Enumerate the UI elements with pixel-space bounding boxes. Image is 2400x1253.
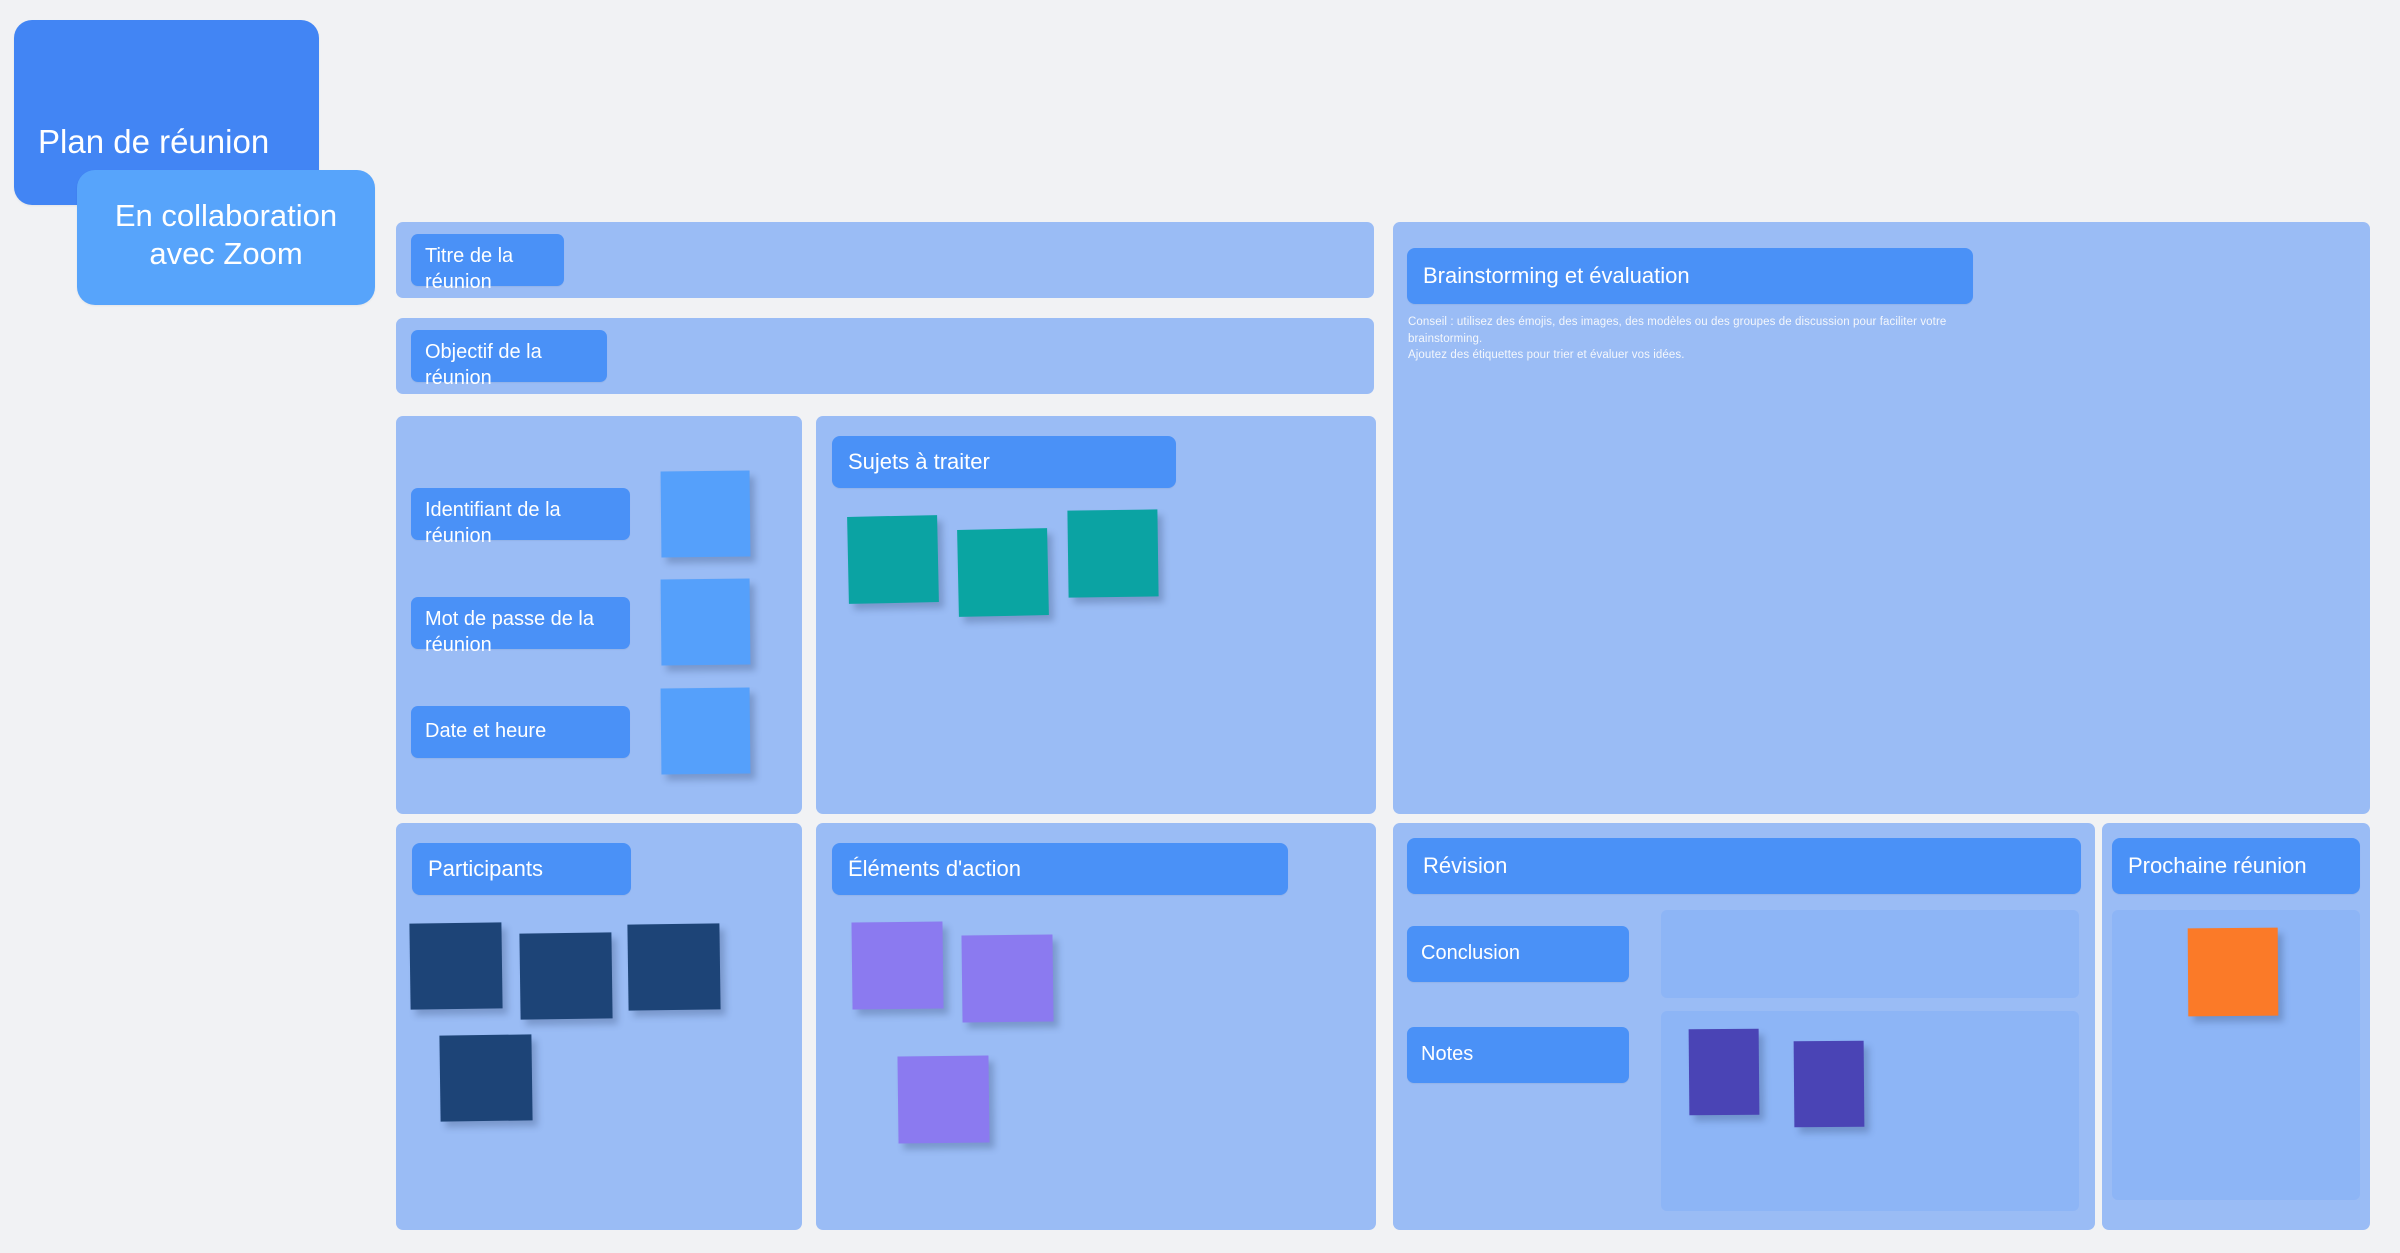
sticky-note-participant-1[interactable] (409, 922, 502, 1009)
chip-conclusion-label: Conclusion (1421, 940, 1520, 966)
sticky-note-participant-4[interactable] (439, 1034, 532, 1121)
sticky-note-action-1[interactable] (851, 921, 943, 1009)
frame-brainstorming[interactable]: Brainstorming et évaluation Conseil : ut… (1393, 222, 2370, 814)
sticky-note-participant-3[interactable] (627, 923, 720, 1010)
frame-meeting-title[interactable]: Titre de la réunion (396, 222, 1374, 298)
header-participants[interactable]: Participants (412, 843, 631, 895)
sticky-note-topic-1[interactable] (847, 515, 939, 604)
sticky-note-meeting-id[interactable] (661, 471, 751, 558)
sticky-note-topic-3[interactable] (1067, 509, 1158, 597)
header-review[interactable]: Révision (1407, 838, 2081, 894)
chip-meeting-objective[interactable]: Objectif de la réunion (411, 330, 607, 382)
chip-meeting-datetime-label: Date et heure (425, 718, 546, 744)
sticky-note-participant-2[interactable] (519, 932, 612, 1019)
header-brainstorming[interactable]: Brainstorming et évaluation (1407, 248, 1973, 304)
sticky-note-next-meeting[interactable] (2188, 928, 2279, 1017)
sticky-note-topic-2[interactable] (957, 528, 1049, 617)
chip-notes-label: Notes (1421, 1041, 1473, 1067)
frame-meeting-objective[interactable]: Objectif de la réunion (396, 318, 1374, 394)
chip-notes[interactable]: Notes (1407, 1027, 1629, 1083)
frame-next-meeting[interactable]: Prochaine réunion (2102, 823, 2370, 1230)
header-brainstorming-label: Brainstorming et évaluation (1423, 263, 1690, 289)
header-topics-label: Sujets à traiter (848, 449, 990, 475)
sticky-note-action-3[interactable] (897, 1055, 989, 1143)
header-participants-label: Participants (428, 856, 543, 882)
chip-meeting-id[interactable]: Identifiant de la réunion (411, 488, 630, 540)
sticky-note-meeting-password[interactable] (661, 579, 751, 666)
board-subtitle-text: En collaboration avec Zoom (95, 197, 357, 271)
chip-meeting-datetime[interactable]: Date et heure (411, 706, 630, 758)
frame-participants[interactable]: Participants (396, 823, 802, 1230)
subframe-conclusion-content[interactable] (1661, 910, 2079, 998)
subframe-notes-content[interactable] (1661, 1011, 2079, 1211)
header-review-label: Révision (1423, 853, 1507, 879)
board-title-text: Plan de réunion (38, 123, 269, 161)
brainstorming-tip-text: Conseil : utilisez des émojis, des image… (1408, 314, 1993, 364)
chip-meeting-title-label: Titre de la réunion (425, 243, 550, 296)
chip-conclusion[interactable]: Conclusion (1407, 926, 1629, 982)
header-next-meeting-label: Prochaine réunion (2128, 853, 2307, 879)
sticky-note-meeting-datetime[interactable] (661, 688, 751, 775)
chip-meeting-password-label: Mot de passe de la réunion (425, 606, 616, 659)
sticky-note-action-2[interactable] (961, 934, 1053, 1022)
header-topics[interactable]: Sujets à traiter (832, 436, 1176, 488)
frame-meeting-details[interactable]: Identifiant de la réunion Mot de passe d… (396, 416, 802, 814)
chip-meeting-title[interactable]: Titre de la réunion (411, 234, 564, 286)
frame-review[interactable]: Révision Conclusion Notes (1393, 823, 2095, 1230)
frame-topics[interactable]: Sujets à traiter (816, 416, 1376, 814)
chip-meeting-password[interactable]: Mot de passe de la réunion (411, 597, 630, 649)
header-action-items-label: Éléments d'action (848, 856, 1021, 882)
subframe-next-meeting-content[interactable] (2112, 910, 2360, 1200)
chip-meeting-id-label: Identifiant de la réunion (425, 497, 616, 550)
miro-board-canvas[interactable]: Plan de réunion En collaboration avec Zo… (0, 0, 2400, 1253)
chip-meeting-objective-label: Objectif de la réunion (425, 339, 593, 392)
sticky-note-review-1[interactable] (1689, 1029, 1760, 1116)
header-action-items[interactable]: Éléments d'action (832, 843, 1288, 895)
sticky-note-review-2[interactable] (1794, 1041, 1865, 1128)
frame-action-items[interactable]: Éléments d'action (816, 823, 1376, 1230)
header-next-meeting[interactable]: Prochaine réunion (2112, 838, 2360, 894)
board-subtitle-card[interactable]: En collaboration avec Zoom (77, 170, 375, 305)
